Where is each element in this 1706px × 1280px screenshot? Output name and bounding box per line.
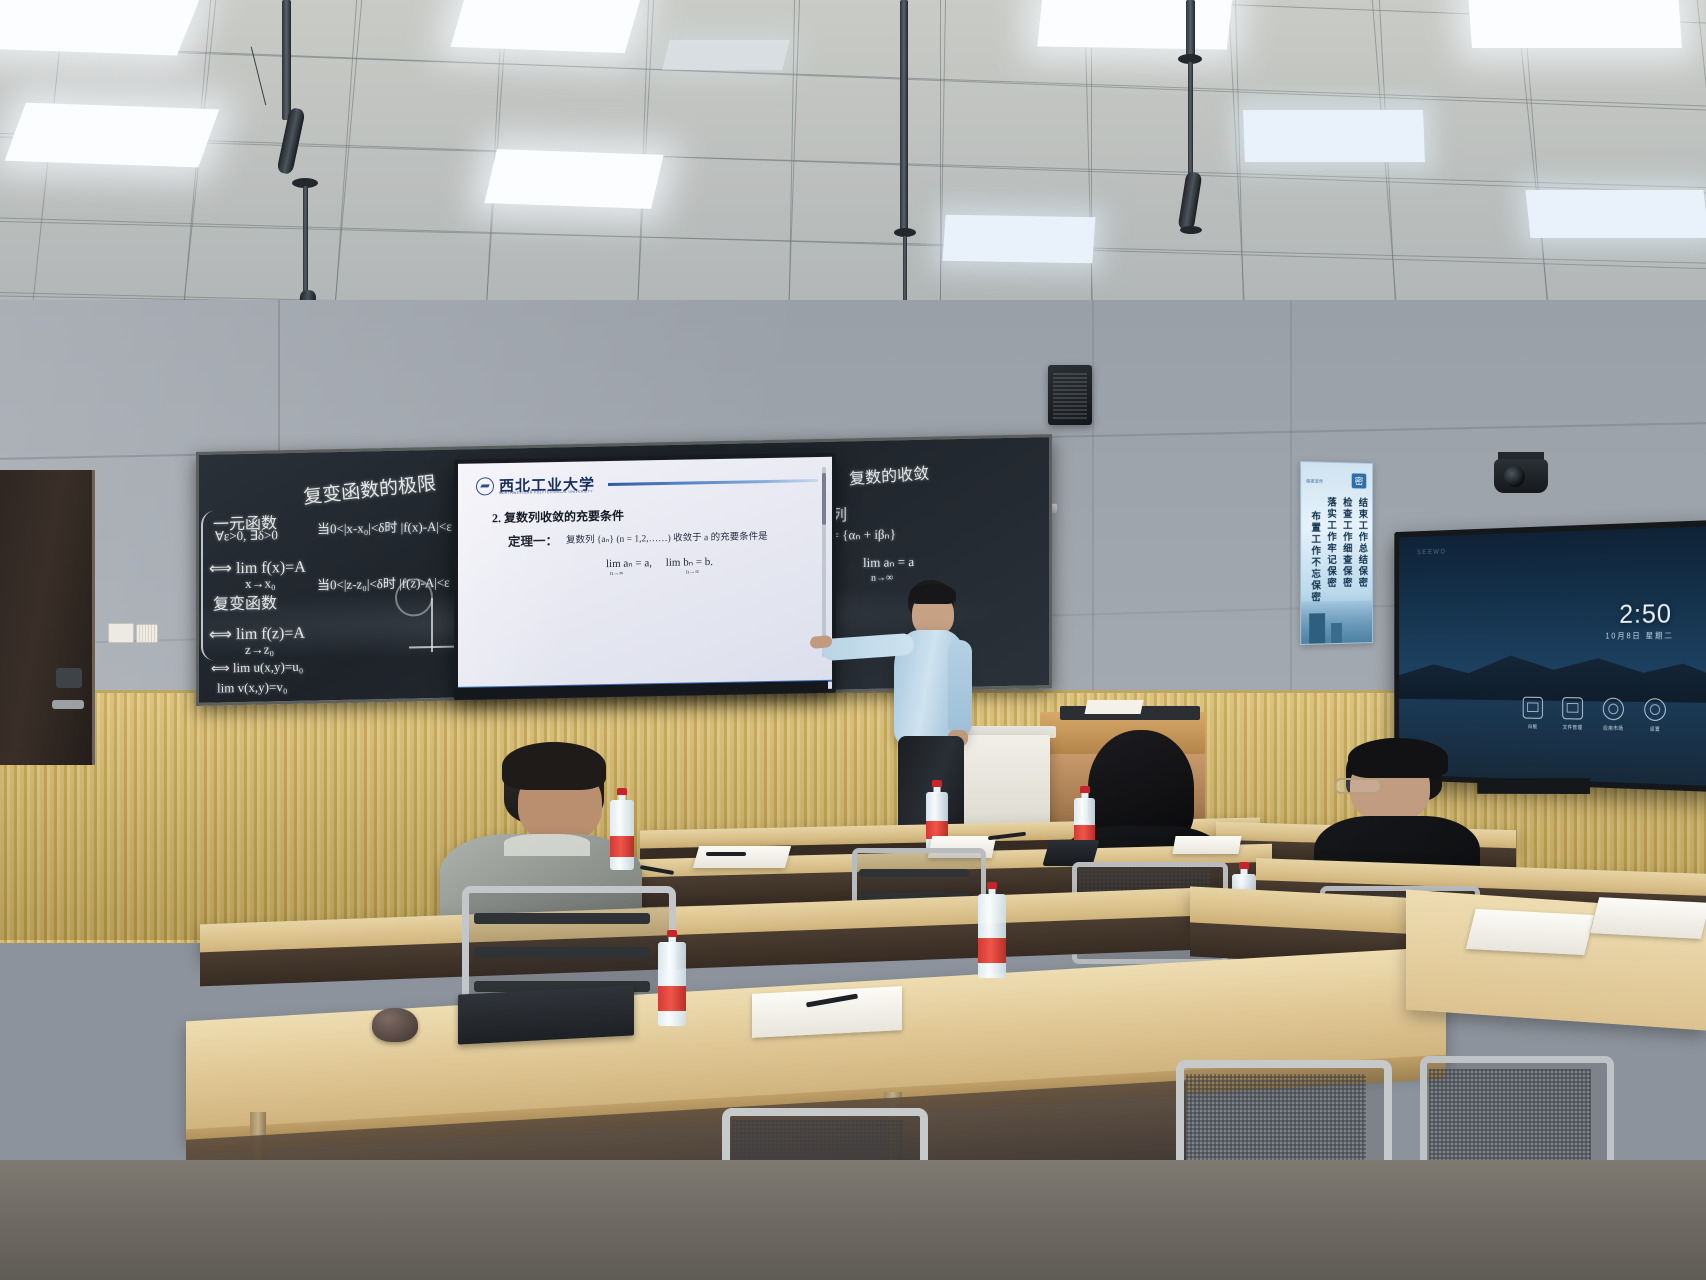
chalk-brace [201, 511, 217, 661]
presenter-arm [948, 640, 972, 736]
water-bottle[interactable] [978, 882, 1006, 978]
led-panel-light [484, 149, 663, 209]
wall-seam [1290, 300, 1292, 700]
formula-right: lim bₙ = b. [666, 556, 713, 569]
water-bottle[interactable] [658, 930, 686, 1026]
panel-brand: SEEWO [1417, 549, 1447, 556]
panel-date: 10月8日 星期二 [1605, 630, 1673, 641]
notepad[interactable] [752, 986, 902, 1038]
folder-icon [1562, 697, 1583, 719]
panel-app-files[interactable]: 文件管理 [1562, 697, 1583, 731]
computer-mouse[interactable] [372, 1008, 418, 1042]
formula-left: lim aₙ = a, [606, 557, 652, 570]
panel-app-row: 白板 文件管理 应用市场 设置 [1523, 697, 1666, 733]
attendee-hair-top [1348, 738, 1448, 778]
led-panel-light [662, 40, 789, 70]
presentation-slide: 西北工业大学 NORTHWESTERN POLYTECHNICAL UNIVER… [458, 457, 832, 696]
poster-building-image [1301, 601, 1372, 644]
chalk-note: 复变函数的极限 [302, 468, 437, 509]
classroom-photo: 保密宣传 密 结束工作总结保密 检查工作细查保密 落实工作牢记保密 布置工作不忘… [0, 0, 1706, 1280]
door-lock[interactable] [56, 668, 82, 688]
chalk-note: lim v(x,y)=v₀ [217, 679, 287, 696]
card-reader-panel[interactable] [108, 623, 134, 643]
wall-seam [1092, 300, 1094, 700]
door-handle[interactable] [52, 700, 84, 709]
notepad[interactable] [693, 846, 791, 868]
panel-app-settings[interactable]: 设置 [1644, 698, 1666, 733]
light-switch-panel[interactable] [136, 624, 158, 643]
flat-panel-stand [1477, 778, 1590, 794]
wallpaper-mountains [1399, 635, 1706, 702]
chalk-note: 复变函数 [213, 589, 277, 614]
projection-screen[interactable]: 西北工业大学 NORTHWESTERN POLYTECHNICAL UNIVER… [454, 453, 836, 700]
notepad[interactable] [1466, 909, 1594, 955]
panel-app-label: 文件管理 [1563, 724, 1583, 731]
poster-column: 结束工作总结保密 [1355, 497, 1369, 589]
presenter [860, 580, 990, 860]
lectern-papers [1085, 700, 1144, 714]
chalk-note: lim aₙ = a [863, 554, 914, 571]
led-panel-light [942, 215, 1095, 264]
chalk-note: 复数的收敛 [848, 460, 929, 490]
poster-column: 落实工作牢记保密 [1323, 497, 1337, 589]
notepad[interactable] [1172, 836, 1241, 854]
led-panel-light [1243, 110, 1425, 162]
led-panel-light [1468, 0, 1682, 48]
slide-section-heading: 2. 复数列收敛的充要条件 [492, 507, 624, 527]
attendee-hair-top [502, 742, 606, 790]
panel-app-label: 设置 [1650, 726, 1660, 733]
chalk-axis [431, 598, 433, 652]
appstore-icon [1603, 698, 1624, 721]
chalk-note: ∀ε>0, ∃δ>0 [215, 527, 278, 544]
polo-collar [504, 834, 590, 856]
panel-app-label: 白板 [1528, 723, 1538, 730]
document-folder[interactable] [458, 985, 634, 1044]
presenter-hair-top [910, 584, 956, 604]
chalk-note: z→z₀ [245, 641, 274, 658]
chalk-note: ⟺ lim u(x,y)=u₀ [211, 659, 303, 677]
glasses-icon [1334, 778, 1382, 794]
led-panel-light [1525, 190, 1706, 238]
panel-app-label: 应用市场 [1603, 725, 1623, 732]
panel-clock: 2:50 [1619, 599, 1672, 630]
poster-seal: 密 [1352, 473, 1367, 488]
npu-logo [476, 477, 494, 495]
led-panel-light [5, 103, 220, 168]
confidentiality-poster: 保密宣传 密 结束工作总结保密 检查工作细查保密 落实工作牢记保密 布置工作不忘… [1300, 461, 1373, 645]
poster-column: 检查工作细查保密 [1339, 497, 1353, 589]
formula-left-sub: n→∞ [610, 571, 623, 577]
slide-theorem-body: 复数列 {aₙ} (n = 1,2,……) 收敛于 a 的充要条件是 [566, 528, 768, 546]
water-bottle[interactable] [610, 788, 634, 870]
classroom-door[interactable] [0, 470, 95, 765]
slide-formula: lim aₙ = a, lim bₙ = b. [606, 555, 713, 570]
poster-org: 保密宣传 [1306, 478, 1323, 484]
notepad[interactable] [1590, 897, 1706, 939]
slide-theorem-label: 定理一： [508, 530, 558, 550]
pen[interactable] [706, 852, 746, 856]
panel-app-whiteboard[interactable]: 白板 [1523, 697, 1543, 731]
panel-app-appstore[interactable]: 应用市场 [1603, 698, 1624, 732]
whiteboard-icon [1523, 697, 1543, 719]
led-panel-light [0, 0, 200, 55]
poster-column: 布置工作不忘保密 [1307, 511, 1321, 604]
settings-icon [1644, 698, 1666, 721]
formula-right-sub: n→∞ [686, 569, 699, 575]
led-panel-light [1037, 0, 1233, 50]
slide-scrollbar[interactable] [822, 467, 826, 657]
chalk-note: 当0<|x-x₀|<δ时 |f(x)-A|<ε [317, 516, 452, 538]
wall-speaker [1048, 365, 1092, 425]
led-panel-light [451, 0, 642, 53]
floor [0, 1160, 1706, 1280]
